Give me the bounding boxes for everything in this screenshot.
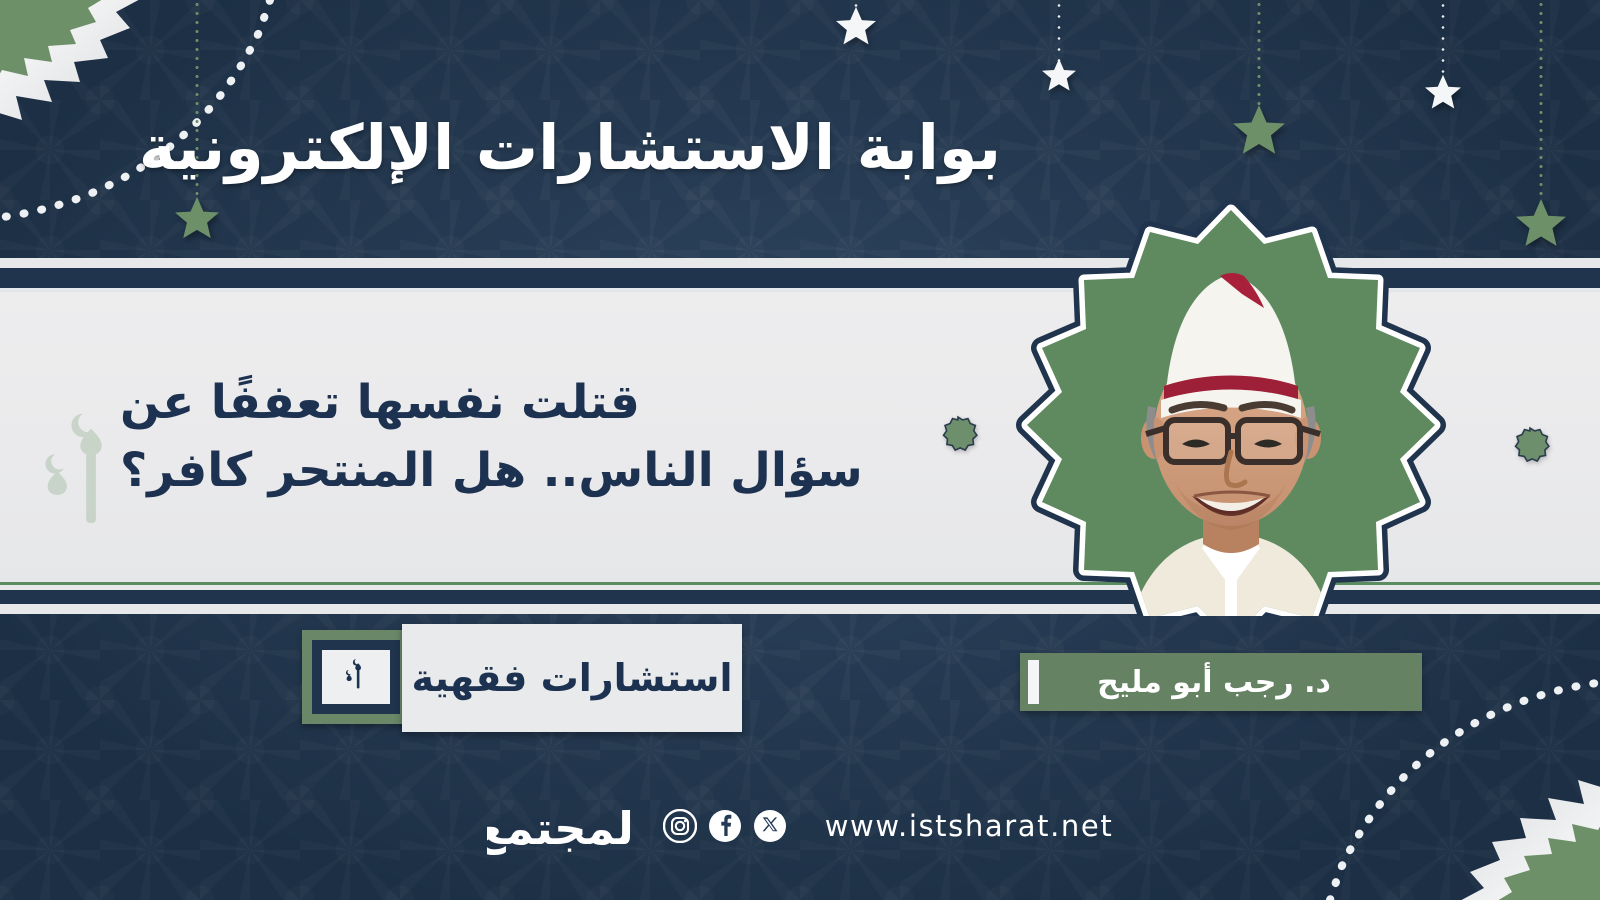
social-icons [663, 809, 787, 843]
brand-logo-text: المجتمع [487, 802, 637, 855]
flower-dot-left-icon [936, 415, 980, 459]
facebook-icon[interactable] [708, 809, 742, 843]
x-twitter-icon[interactable] [753, 809, 787, 843]
category-group: استشارات فقهية [302, 624, 742, 734]
title-block: قتلت نفسها تعففًا عن سؤال الناس.. هل الم… [120, 306, 900, 568]
badge-accent-bar [1028, 660, 1039, 704]
crescent-minaret-icon [336, 657, 376, 697]
portrait-photo [1006, 196, 1456, 616]
medallion-frame-icon [1006, 196, 1456, 616]
website-url[interactable]: www.istsharat.net [825, 809, 1114, 843]
category-label: استشارات فقهية [411, 656, 732, 700]
instagram-icon[interactable] [663, 809, 697, 843]
category-logo-chip [322, 650, 390, 704]
category-plaque: استشارات فقهية [402, 624, 742, 732]
title-line-2: سؤال الناس.. هل المنتحر كافر؟ [120, 437, 863, 505]
speaker-name-badge: د. رجب أبو مليح [1020, 653, 1422, 711]
flower-dot-right-icon [1508, 426, 1552, 470]
footer: المجتمع www.istsharat.net [0, 786, 1600, 866]
header-calligraphy: بوابة الاستشارات الإلكترونية [215, 62, 925, 232]
title-line-1: قتلت نفسها تعففًا عن [120, 369, 640, 437]
poster-canvas: بوابة الاستشارات الإلكترونية [0, 0, 1600, 900]
speaker-portrait [1006, 196, 1456, 616]
speaker-name: د. رجب أبو مليح [1097, 665, 1331, 700]
brand-logo-almujtama: المجتمع [487, 787, 637, 865]
header-title: بوابة الاستشارات الإلكترونية [139, 111, 1001, 184]
